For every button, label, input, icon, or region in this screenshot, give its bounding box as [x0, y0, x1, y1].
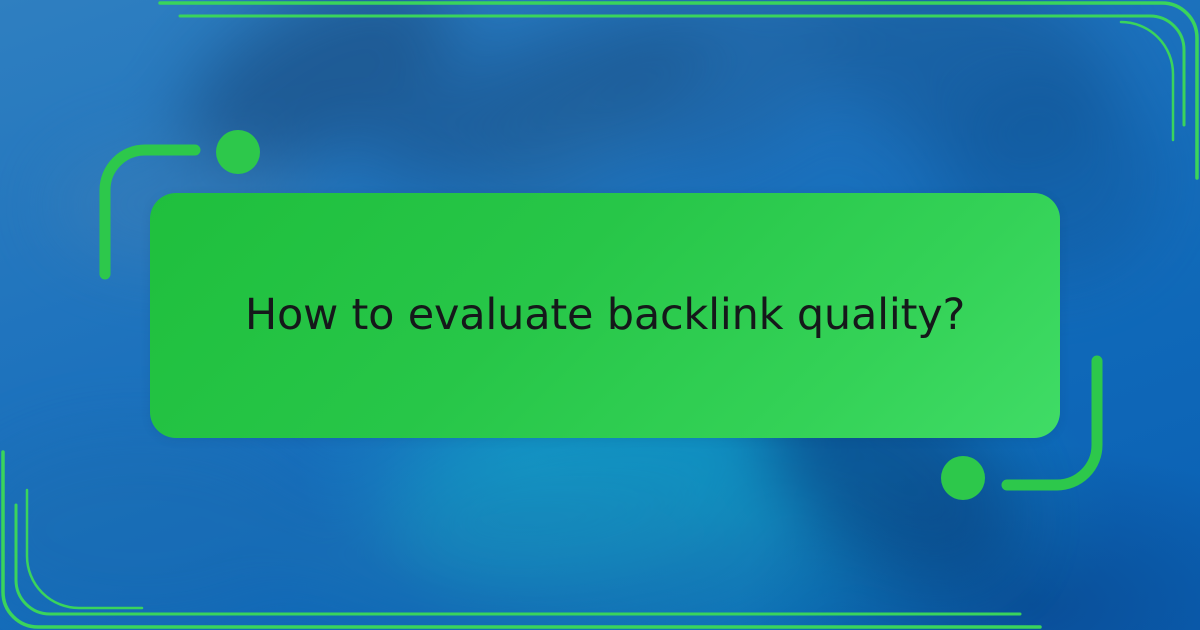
accent-dot-bottom-right-icon: [941, 456, 985, 500]
accent-dot-top-left-icon: [216, 130, 260, 174]
background-blob: [0, 430, 320, 630]
headline-card: How to evaluate backlink quality?: [150, 193, 1060, 438]
page-title: How to evaluate backlink quality?: [191, 290, 1019, 342]
graphic-canvas: How to evaluate backlink quality?: [0, 0, 1200, 630]
background-blob: [290, 480, 810, 630]
